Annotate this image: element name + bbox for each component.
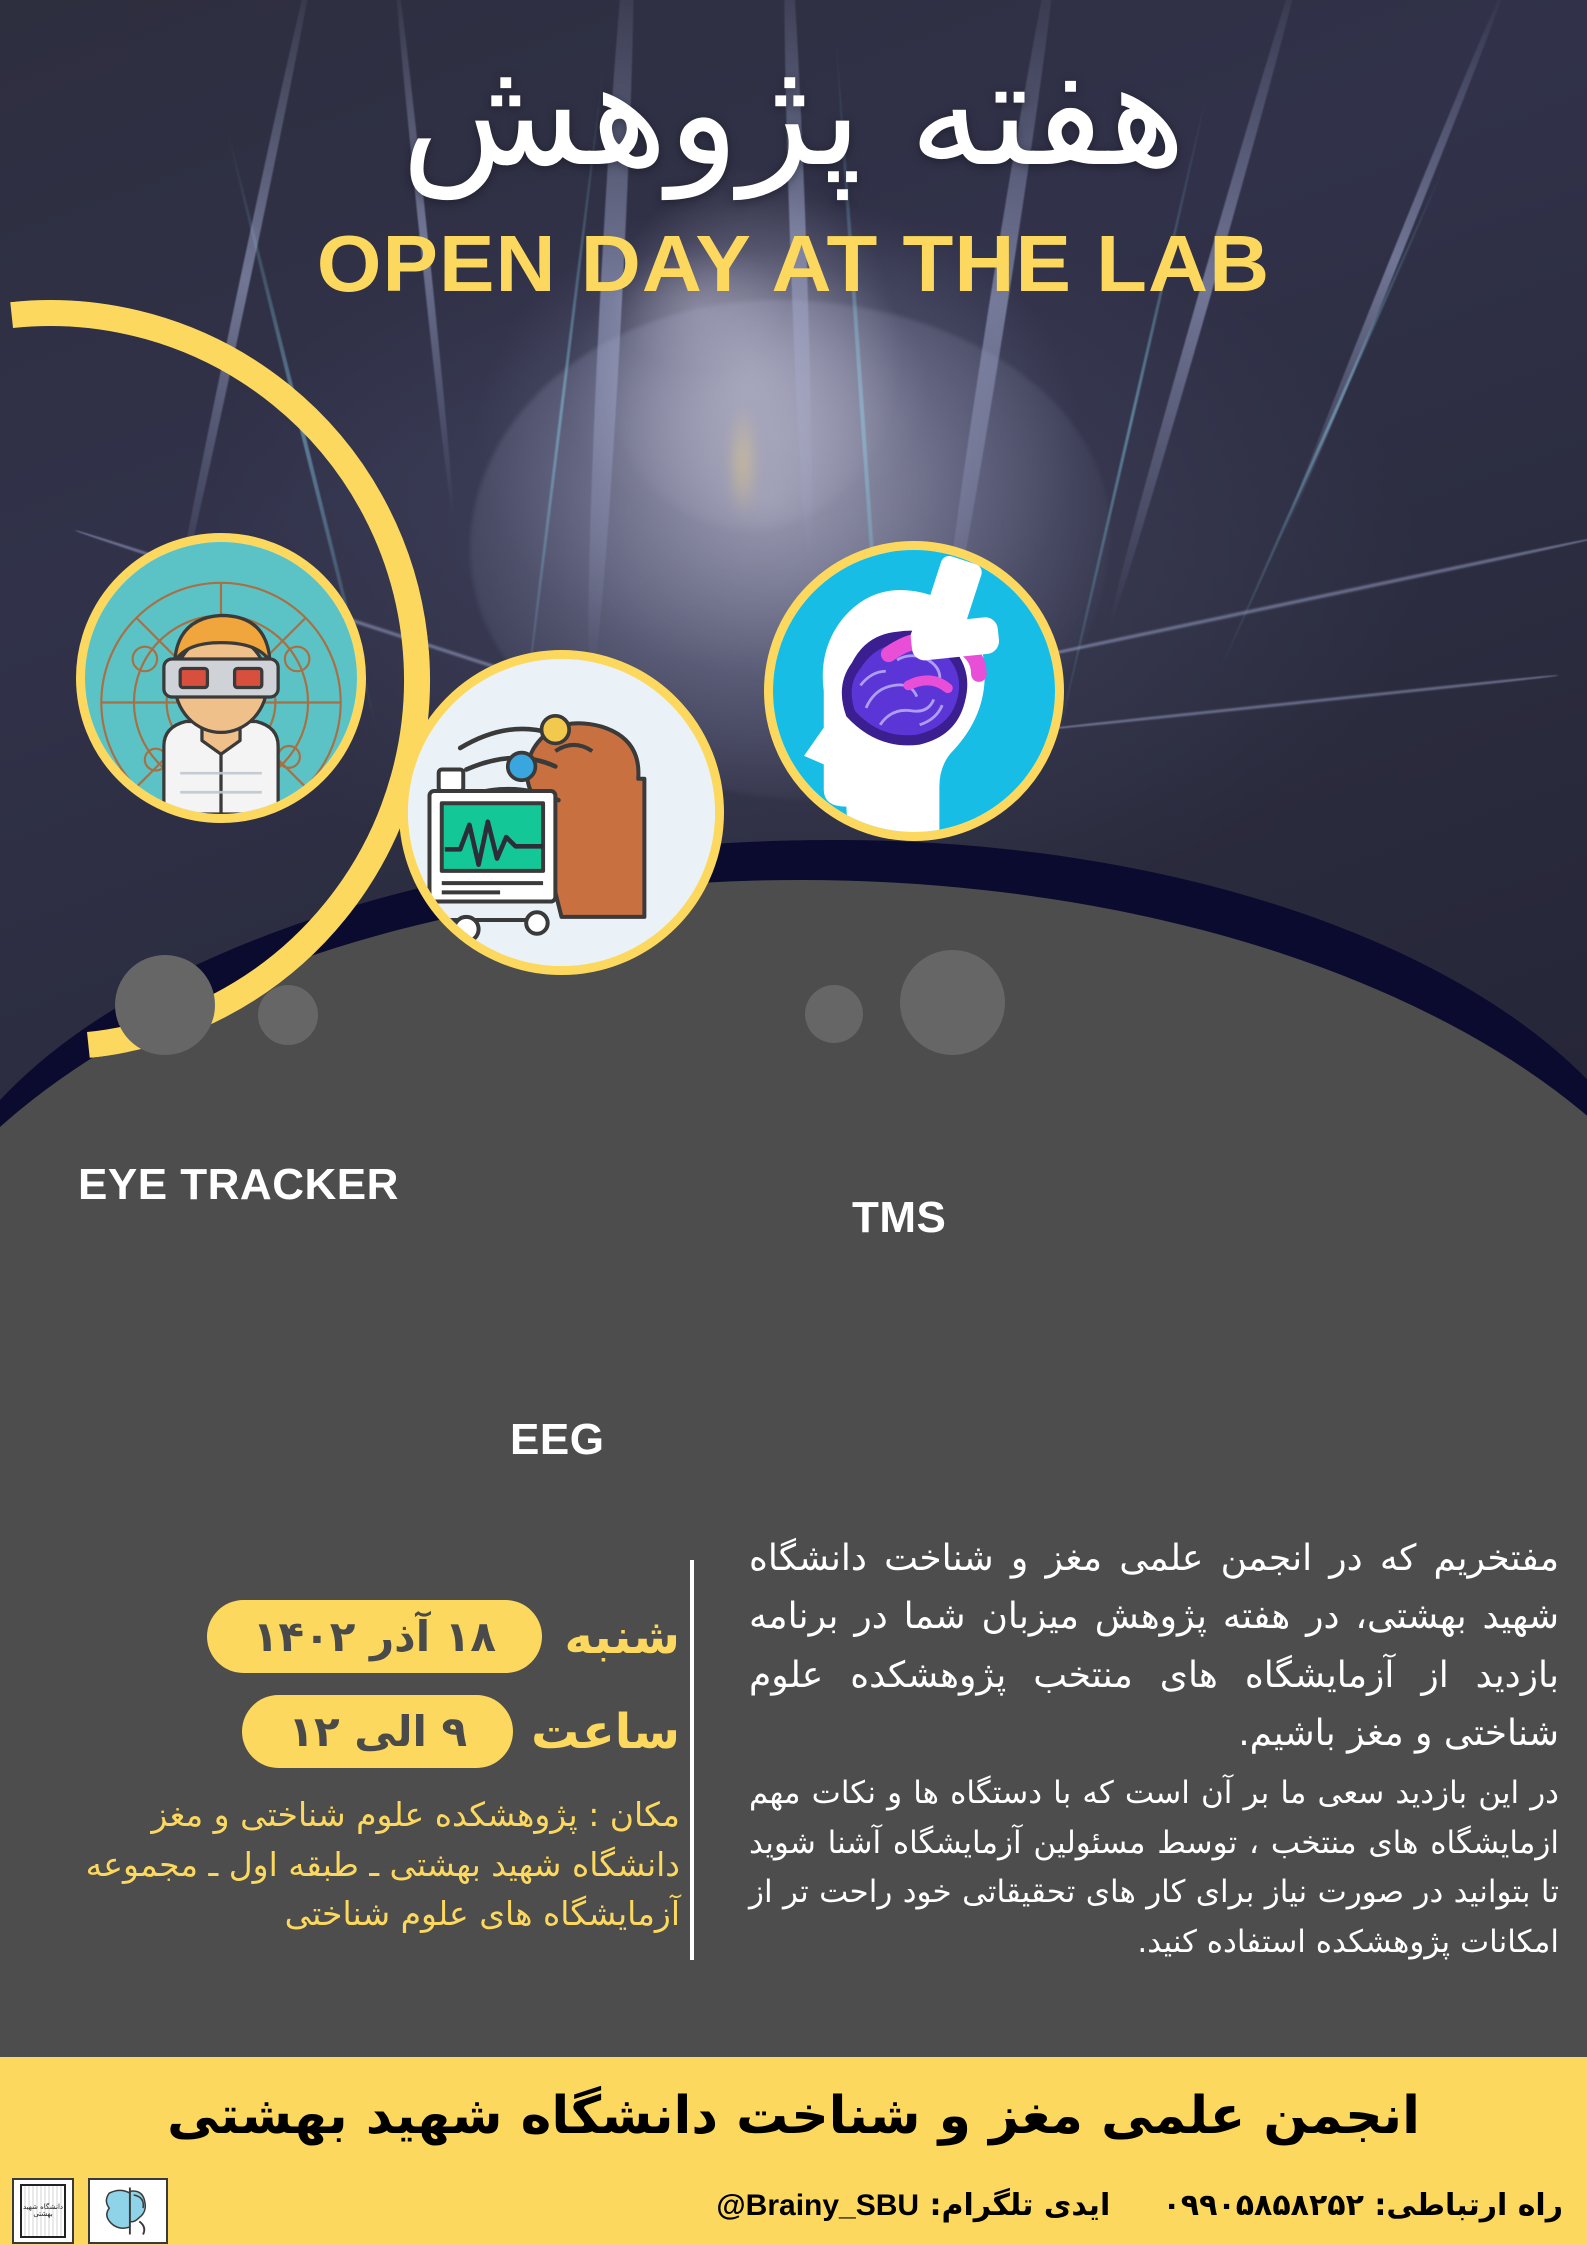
decorative-dot [115, 955, 215, 1055]
brain-association-logo [88, 2178, 168, 2244]
station-label-eye-tracker: EYE TRACKER [78, 1160, 399, 1210]
tms-icon [773, 550, 1055, 832]
brain-logo-icon [90, 2180, 166, 2242]
eeg-icon [408, 659, 715, 966]
venue-line-2: دانشگاه شهید بهشتی ـ طبقه اول ـ مجموعه [60, 1840, 680, 1890]
contact-phone: ۰۹۹۰۵۸۵۸۲۵۲ [1162, 2188, 1363, 2223]
eye-tracker-icon [85, 542, 357, 814]
date-pill: ۱۸ آذر ۱۴۰۲ [207, 1600, 542, 1673]
station-label-tms: TMS [852, 1193, 946, 1243]
decorative-dot [258, 985, 318, 1045]
time-pill: ۹ الی ۱۲ [242, 1695, 513, 1768]
event-time-row: ساعت ۹ الی ۱۲ [60, 1695, 680, 1768]
contact-info: راه ارتباطی: ۰۹۹۰۵۸۵۸۲۵۲ ایدی تلگرام: @B… [716, 2188, 1563, 2223]
venue-line-1: مکان : پژوهشکده علوم شناختی و مغز [60, 1790, 680, 1840]
page-title-english: OPEN DAY AT THE LAB [0, 218, 1587, 310]
description-paragraph-1: مفتخریم که در انجمن علمی مغز و شناخت دان… [749, 1530, 1559, 1763]
telegram-handle[interactable]: @Brainy_SBU [716, 2189, 919, 2223]
station-badge-tms[interactable] [764, 541, 1064, 841]
sbu-logo-text: دانشگاه شهید بهشتی [20, 2184, 66, 2238]
venue-block: مکان : پژوهشکده علوم شناختی و مغز دانشگا… [60, 1790, 680, 1939]
station-badge-eeg[interactable] [399, 650, 724, 975]
poster-root: هفته پژوهش OPEN DAY AT THE LAB [0, 0, 1587, 2245]
decorative-dot [900, 950, 1005, 1055]
neuron-dendrite [1041, 673, 1559, 732]
telegram-label: ایدی تلگرام: [930, 2188, 1111, 2223]
organization-name: انجمن علمی مغز و شناخت دانشگاه شهید بهشت… [167, 2086, 1420, 2146]
venue-line-3: آزمایشگاه های علوم شناختی [60, 1889, 680, 1939]
footer-organization-band: انجمن علمی مغز و شناخت دانشگاه شهید بهشت… [0, 2057, 1587, 2175]
neuron-spark [725, 400, 761, 520]
sbu-university-logo: دانشگاه شهید بهشتی [12, 2178, 74, 2244]
station-badge-eye-tracker[interactable] [76, 533, 366, 823]
event-date-row: شنبه ۱۸ آذر ۱۴۰۲ [60, 1600, 680, 1673]
vertical-divider [690, 1560, 694, 1960]
day-label: شنبه [560, 1609, 680, 1665]
decorative-dot [805, 985, 863, 1043]
station-label-eeg: EEG [510, 1415, 604, 1465]
neuron-dendrite [986, 536, 1587, 671]
description-block: مفتخریم که در انجمن علمی مغز و شناخت دان… [749, 1530, 1559, 1968]
event-details-block: شنبه ۱۸ آذر ۱۴۰۲ ساعت ۹ الی ۱۲ مکان : پژ… [60, 1600, 680, 1939]
time-label: ساعت [531, 1704, 680, 1760]
page-title-persian: هفته پژوهش [0, 28, 1587, 198]
contact-label: راه ارتباطی: [1374, 2188, 1563, 2223]
description-paragraph-2: در این بازدید سعی ما بر آن است که با دست… [749, 1769, 1559, 1967]
